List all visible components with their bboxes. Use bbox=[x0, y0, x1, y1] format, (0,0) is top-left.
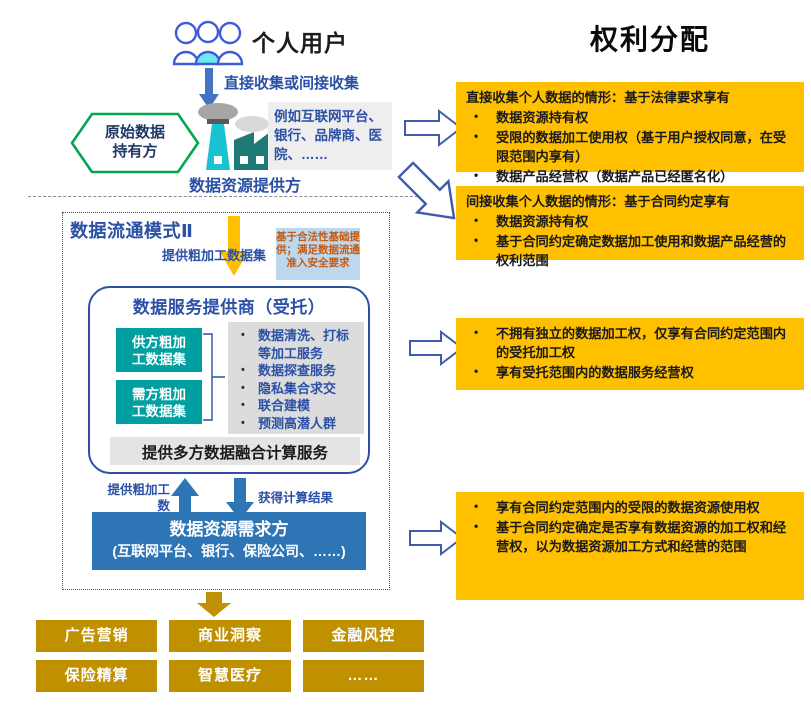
processor-rights-panel: 不拥有独立的数据加工权，仅享有合同约定范围内的受托加工权 享有受托范围内的数据服… bbox=[456, 318, 804, 390]
use-case-chip[interactable]: 金融风控 bbox=[303, 620, 424, 652]
use-case-chip[interactable]: 商业洞察 bbox=[169, 620, 290, 652]
data-resource-provider-label: 数据资源提供方 bbox=[160, 172, 330, 196]
demand-side-dataset-chip: 需方粗加 工数据集 bbox=[116, 380, 202, 424]
personal-user-label: 个人用户 bbox=[252, 24, 402, 58]
use-case-row: 广告营销 商业洞察 金融风控 bbox=[36, 620, 424, 652]
factory-icon bbox=[190, 100, 274, 172]
right-item: 享有受托范围内的数据服务经营权 bbox=[466, 363, 794, 382]
right-item: 不拥有独立的数据加工权，仅享有合同约定范围内的受托加工权 bbox=[466, 324, 794, 362]
use-case-chip[interactable]: 智慧医疗 bbox=[169, 660, 290, 692]
three-people-icon bbox=[172, 20, 244, 66]
raw-data-holder-hexagon: 原始数据 持有方 bbox=[70, 112, 200, 174]
service-item: 预测高潜人群 bbox=[232, 415, 360, 433]
service-item: 联合建模 bbox=[232, 397, 360, 415]
diagram-canvas: 权利分配 个人用户 直接收集或间接收集 原始数据 持有方 bbox=[0, 0, 811, 720]
legality-basis-note: 基于合法性基础提供；满足数据流通准入安全要求 bbox=[276, 228, 360, 280]
obtain-result-label: 获得计算结果 bbox=[258, 487, 368, 506]
supply-dataset-line2: 工数据集 bbox=[132, 352, 186, 367]
use-case-chip[interactable]: 广告营销 bbox=[36, 620, 157, 652]
use-case-chip[interactable]: 保险精算 bbox=[36, 660, 157, 692]
raw-holder-line1: 原始数据 bbox=[105, 124, 165, 141]
use-case-down-arrow-icon bbox=[196, 592, 232, 618]
coarse-dataset-label-top: 提供粗加工数据集 bbox=[146, 245, 266, 264]
provider-examples-note: 例如互联网平台、银行、品牌商、医院、…… bbox=[268, 102, 392, 170]
dataset-bracket-connector bbox=[202, 333, 226, 421]
panel-heading: 间接收集个人数据的情形：基于合同约定享有 bbox=[466, 192, 794, 211]
use-case-grid: 广告营销 商业洞察 金融风控 保险精算 智慧医疗 …… bbox=[36, 620, 424, 700]
demander-rights-panel: 享有合同约定范围内的受限的数据资源使用权 基于合同约定确定是否享有数据资源的加工… bbox=[456, 492, 804, 600]
section-divider bbox=[28, 196, 428, 197]
page-title: 权利分配 bbox=[520, 18, 780, 58]
panel-heading: 直接收集个人数据的情形：基于法律要求享有 bbox=[466, 88, 794, 107]
right-item: 数据资源持有权 bbox=[466, 108, 794, 127]
service-item: 数据清洗、打标等加工服务 bbox=[232, 327, 360, 362]
fusion-computing-service-label: 提供多方数据融合计算服务 bbox=[110, 437, 360, 465]
use-case-chip[interactable]: …… bbox=[303, 660, 424, 692]
use-case-row: 保险精算 智慧医疗 …… bbox=[36, 660, 424, 692]
service-item: 隐私集合求交 bbox=[232, 380, 360, 398]
service-item: 数据探查服务 bbox=[232, 362, 360, 380]
connector-arrow-to-direct-rights-icon bbox=[403, 108, 463, 148]
service-list: 数据清洗、打标等加工服务 数据探查服务 隐私集合求交 联合建模 预测高潜人群 bbox=[228, 322, 364, 434]
demander-subtitle: (互联网平台、银行、保险公司、……) bbox=[92, 541, 366, 561]
supply-side-dataset-chip: 供方粗加 工数据集 bbox=[116, 328, 202, 372]
coarse-label-bottom-line1: 提供粗加工数 bbox=[107, 483, 170, 513]
direct-collection-rights-panel: 直接收集个人数据的情形：基于法律要求享有 数据资源持有权 受限的数据加工使用权（… bbox=[456, 82, 804, 172]
raw-holder-line2: 持有方 bbox=[112, 143, 157, 160]
collect-label: 直接收集或间接收集 bbox=[224, 72, 454, 93]
supply-dataset-line1: 供方粗加 bbox=[132, 335, 186, 350]
demand-dataset-line2: 工数据集 bbox=[132, 404, 186, 419]
right-item: 受限的数据加工使用权（基于用户授权同意，在受限范围内享有） bbox=[466, 128, 794, 166]
demander-title: 数据资源需求方 bbox=[92, 519, 366, 541]
data-service-provider-title: 数据服务提供商（受托） bbox=[88, 293, 370, 318]
right-item: 数据资源持有权 bbox=[466, 212, 794, 231]
indirect-collection-rights-panel: 间接收集个人数据的情形：基于合同约定享有 数据资源持有权 基于合同约定确定数据加… bbox=[456, 186, 804, 260]
right-item: 基于合同约定确定数据加工使用和数据产品经营的权利范围 bbox=[466, 232, 794, 270]
right-item: 享有合同约定范围内的受限的数据资源使用权 bbox=[466, 498, 794, 517]
right-item: 数据产品经营权（数据产品已经匿名化） bbox=[466, 167, 794, 186]
data-resource-demander-box: 数据资源需求方 (互联网平台、银行、保险公司、……) bbox=[92, 512, 366, 570]
right-item: 基于合同约定确定是否享有数据资源的加工权和经营权，以为数据资源加工方式和经营的范… bbox=[466, 518, 794, 556]
raw-data-holder-label: 原始数据 持有方 bbox=[70, 123, 200, 161]
demand-dataset-line1: 需方粗加 bbox=[132, 387, 186, 402]
